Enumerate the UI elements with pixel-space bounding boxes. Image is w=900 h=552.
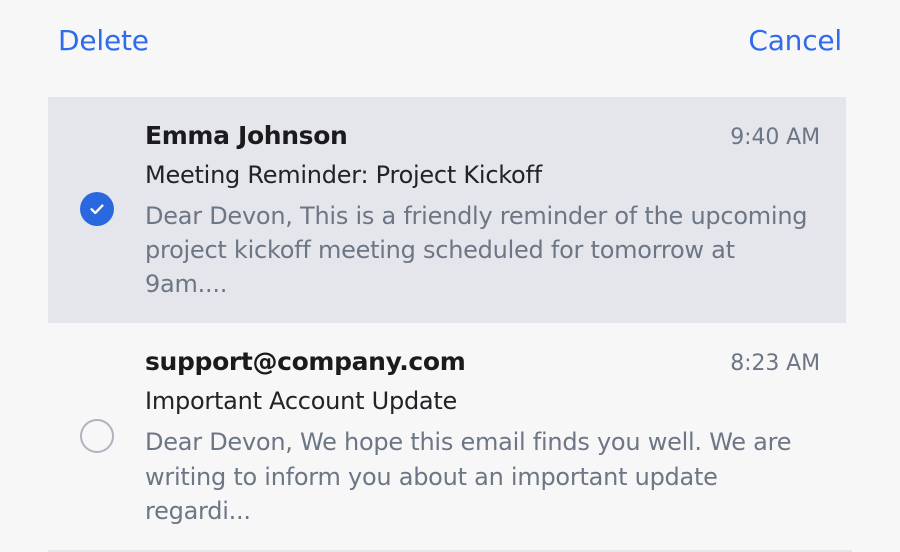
selection-checkbox-cell[interactable] [48,192,145,228]
email-subject: Important Account Update [145,388,820,416]
email-preview: Dear Devon, We hope this email finds you… [145,425,820,527]
email-list-item[interactable]: support@company.com 8:23 AM Important Ac… [48,323,846,549]
cancel-button[interactable]: Cancel [748,27,842,55]
list-divider [48,550,852,552]
email-subject: Meeting Reminder: Project Kickoff [145,162,820,190]
email-sender: support@company.com [145,347,465,376]
email-list: Emma Johnson 9:40 AM Meeting Reminder: P… [0,97,900,552]
email-content: support@company.com 8:23 AM Important Ac… [145,345,820,527]
email-content: Emma Johnson 9:40 AM Meeting Reminder: P… [145,119,820,301]
email-preview: Dear Devon, This is a friendly reminder … [145,199,820,301]
check-circle-filled-icon[interactable] [80,192,114,226]
email-sender: Emma Johnson [145,121,347,150]
email-header-line: support@company.com 8:23 AM [145,347,820,377]
selection-toolbar: Delete Cancel [0,0,900,82]
selection-checkbox-cell[interactable] [48,419,145,455]
email-selection-screen: { "theme": { "page_background": "#f7f7f8… [0,0,900,526]
circle-outline-icon[interactable] [80,419,114,453]
delete-button[interactable]: Delete [58,27,149,55]
email-list-item[interactable]: Emma Johnson 9:40 AM Meeting Reminder: P… [48,97,846,323]
email-timestamp: 8:23 AM [730,351,820,377]
email-timestamp: 9:40 AM [730,125,820,151]
email-header-line: Emma Johnson 9:40 AM [145,121,820,151]
